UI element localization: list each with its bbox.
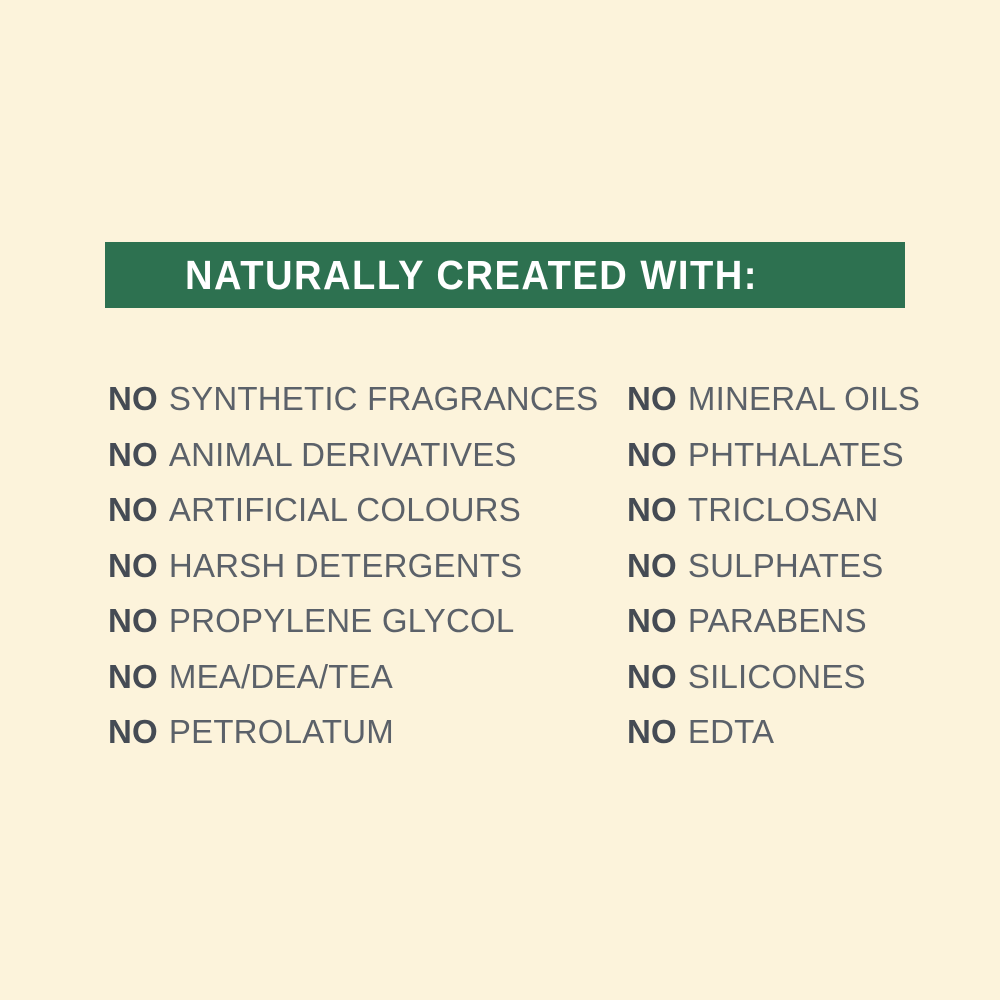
claim-item: NO EDTA (627, 704, 908, 760)
banner-header: NATURALLY CREATED WITH: (105, 242, 905, 308)
claim-label: EDTA (688, 715, 774, 748)
claim-label: HARSH DETERGENTS (169, 549, 522, 582)
banner-title: NATURALLY CREATED WITH: (105, 255, 758, 296)
claim-prefix: NO (108, 660, 158, 693)
claim-item: NO ARTIFICIAL COLOURS (108, 482, 627, 538)
claim-item: NO MEA/DEA/TEA (108, 649, 627, 705)
claim-label: PARABENS (688, 604, 867, 637)
claim-label: SYNTHETIC FRAGRANCES (169, 382, 598, 415)
claim-item: NO HARSH DETERGENTS (108, 538, 627, 594)
claims-list: NO SYNTHETIC FRAGRANCES NO ANIMAL DERIVA… (108, 371, 908, 760)
claim-item: NO PROPYLENE GLYCOL (108, 593, 627, 649)
claim-label: PHTHALATES (688, 438, 904, 471)
claim-item: NO PHTHALATES (627, 427, 908, 483)
claim-item: NO ANIMAL DERIVATIVES (108, 427, 627, 483)
claim-label: ANIMAL DERIVATIVES (169, 438, 517, 471)
claim-prefix: NO (627, 382, 677, 415)
claim-prefix: NO (108, 438, 158, 471)
claim-item: NO MINERAL OILS (627, 371, 908, 427)
claim-item: NO SILICONES (627, 649, 908, 705)
claim-label: MINERAL OILS (688, 382, 920, 415)
claim-item: NO PARABENS (627, 593, 908, 649)
claim-prefix: NO (108, 382, 158, 415)
claim-prefix: NO (108, 549, 158, 582)
claim-label: PETROLATUM (169, 715, 394, 748)
claim-label: ARTIFICIAL COLOURS (169, 493, 521, 526)
claim-prefix: NO (627, 438, 677, 471)
claim-label: SULPHATES (688, 549, 884, 582)
claim-prefix: NO (627, 715, 677, 748)
claim-prefix: NO (627, 604, 677, 637)
claim-label: MEA/DEA/TEA (169, 660, 393, 693)
claim-label: SILICONES (688, 660, 866, 693)
claims-column-right: NO MINERAL OILS NO PHTHALATES NO TRICLOS… (627, 371, 908, 760)
claim-prefix: NO (627, 493, 677, 526)
claim-label: TRICLOSAN (688, 493, 879, 526)
claim-item: NO PETROLATUM (108, 704, 627, 760)
claims-column-left: NO SYNTHETIC FRAGRANCES NO ANIMAL DERIVA… (108, 371, 627, 760)
claim-label: PROPYLENE GLYCOL (169, 604, 515, 637)
claim-item: NO SULPHATES (627, 538, 908, 594)
claim-prefix: NO (108, 493, 158, 526)
claim-prefix: NO (627, 549, 677, 582)
claim-prefix: NO (108, 604, 158, 637)
ingredient-claims-poster: NATURALLY CREATED WITH: NO SYNTHETIC FRA… (0, 0, 1000, 1000)
claim-item: NO SYNTHETIC FRAGRANCES (108, 371, 627, 427)
claim-prefix: NO (108, 715, 158, 748)
claim-prefix: NO (627, 660, 677, 693)
claim-item: NO TRICLOSAN (627, 482, 908, 538)
